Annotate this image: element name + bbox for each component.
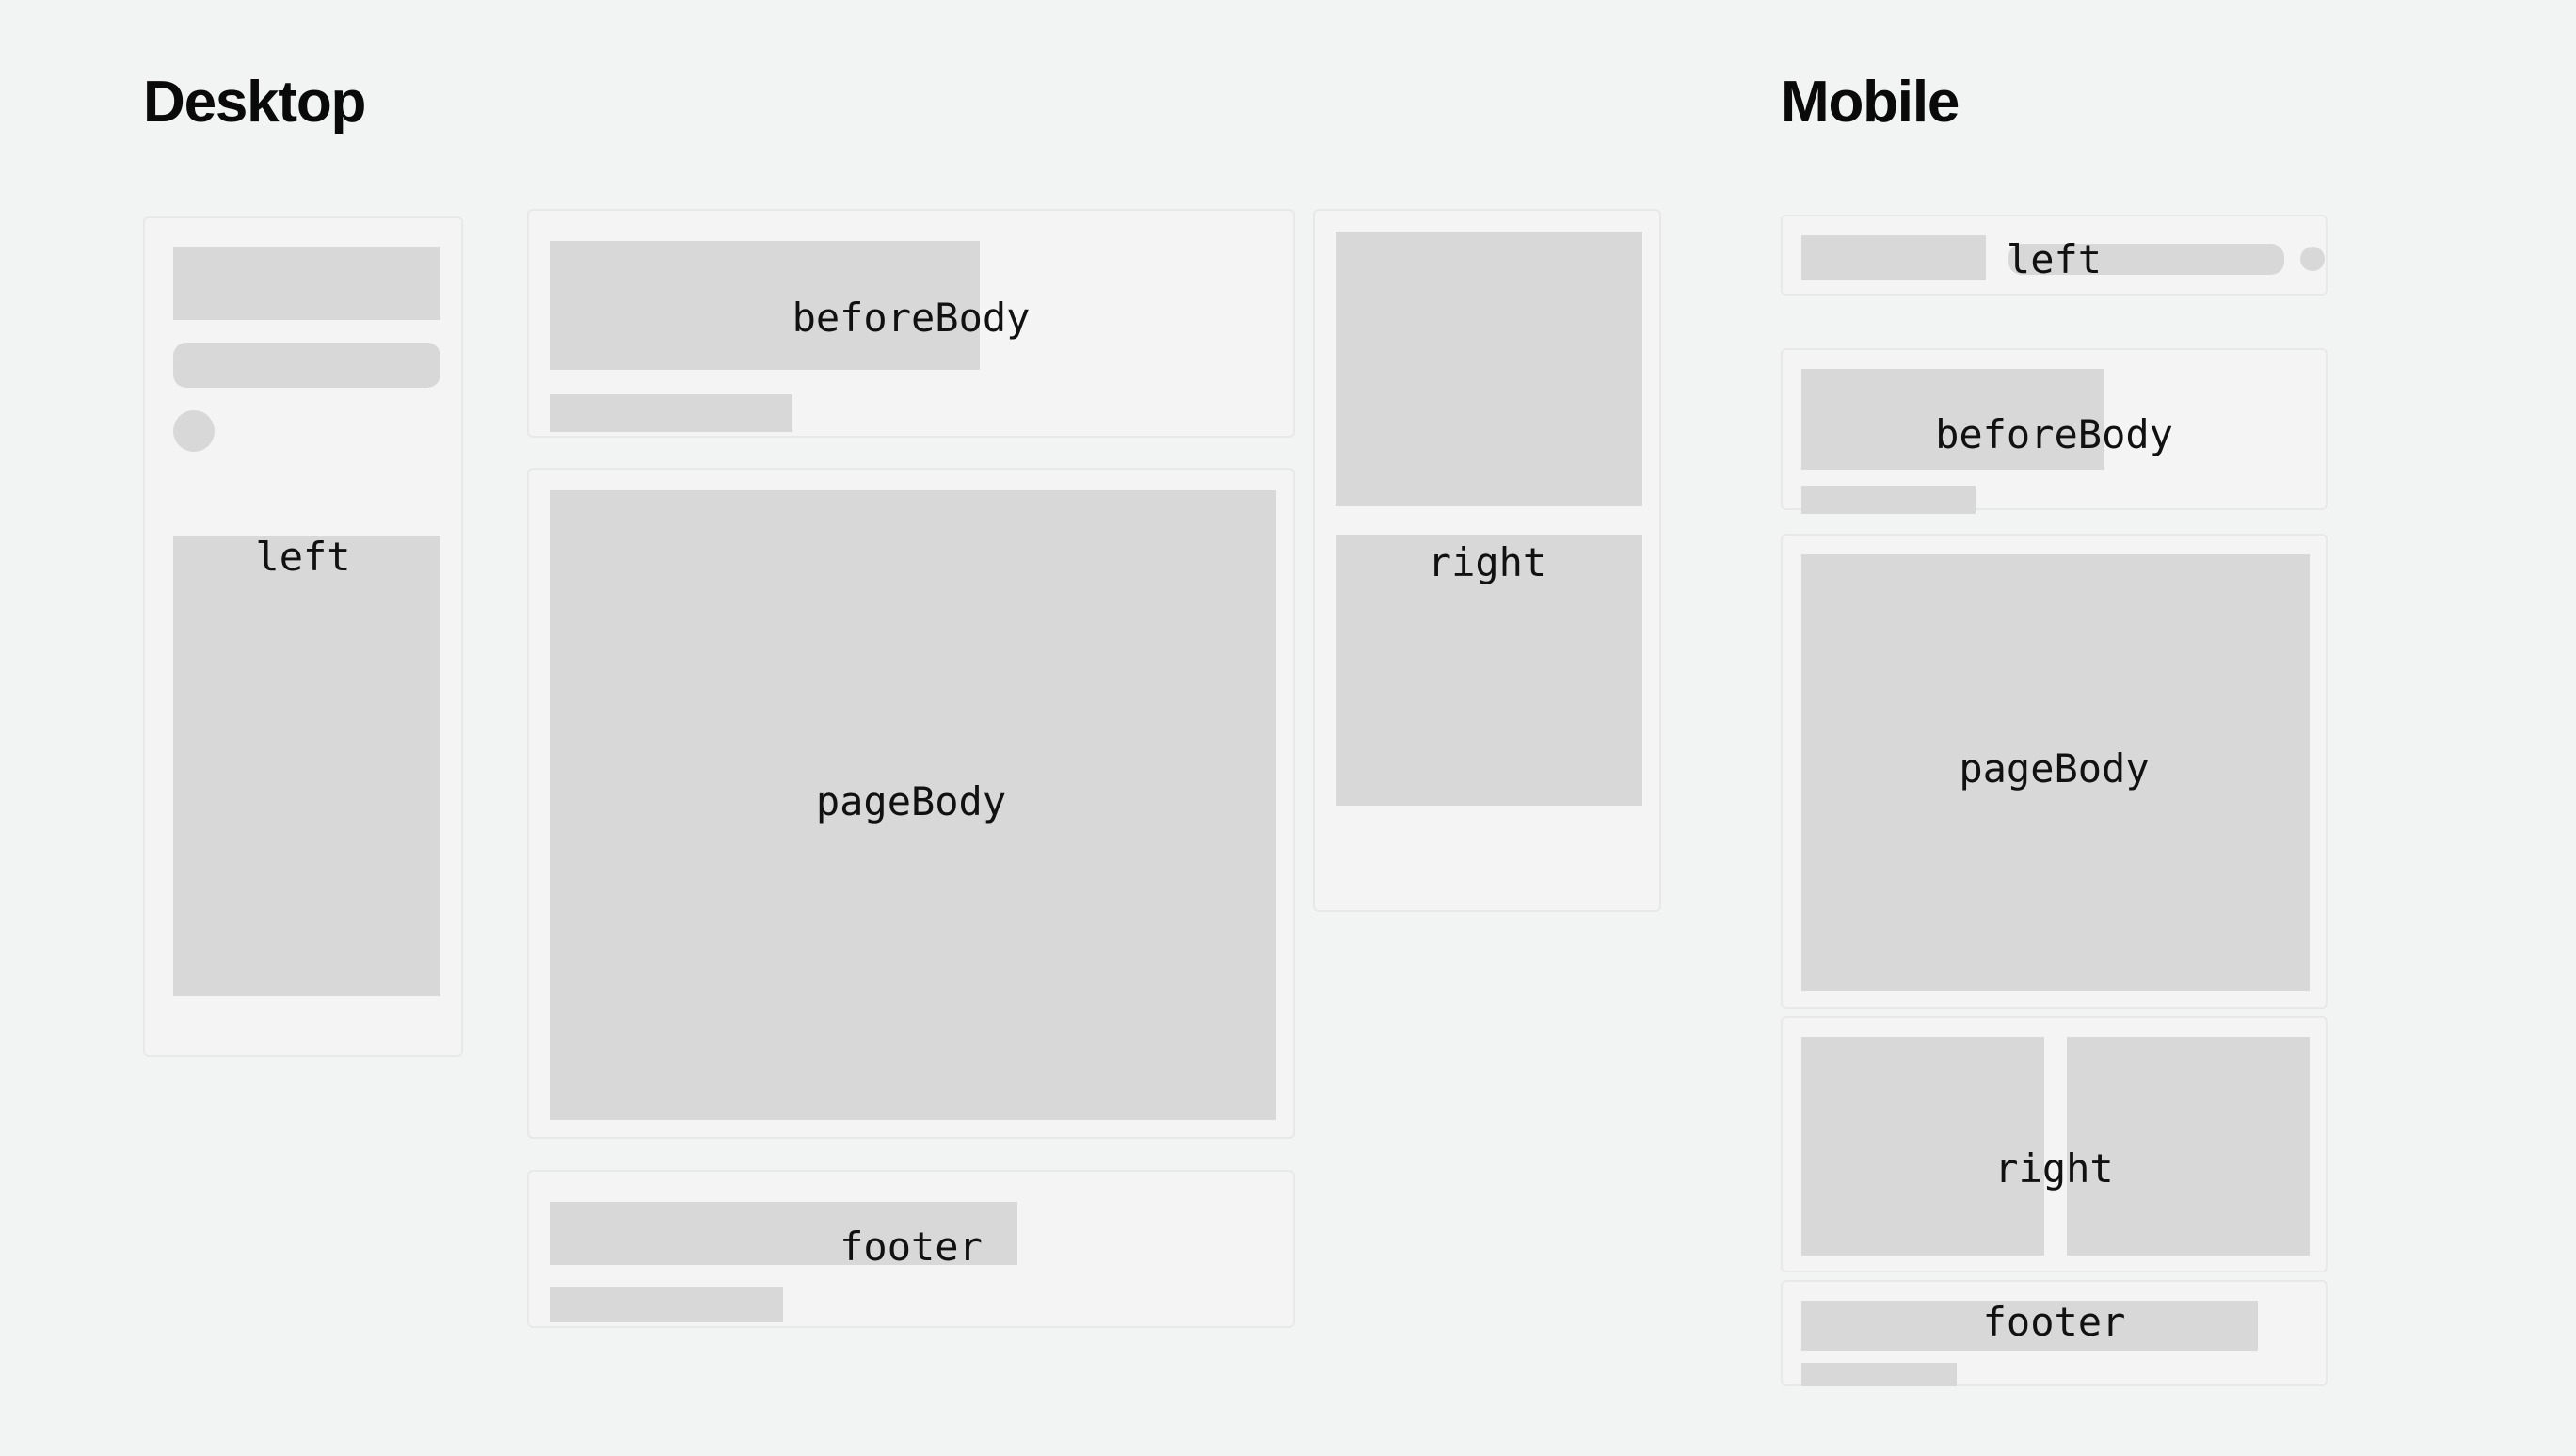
mobile-right-panel[interactable]: [1781, 1016, 2328, 1272]
mobile-pagebody-panel[interactable]: [1781, 534, 2328, 1009]
mobile-left-panel[interactable]: [1781, 215, 2328, 296]
placeholder-block: [1336, 535, 1642, 806]
placeholder-block: [1801, 235, 1986, 280]
mobile-section-title: Mobile: [1781, 73, 1959, 132]
placeholder-block: [173, 247, 440, 320]
placeholder-block: [173, 536, 440, 996]
placeholder-block: [1801, 554, 2310, 991]
mobile-beforebody-panel[interactable]: [1781, 348, 2328, 510]
placeholder-bar: [1801, 486, 1976, 514]
placeholder-avatar-circle: [173, 410, 215, 452]
desktop-beforebody-panel[interactable]: [527, 209, 1295, 438]
desktop-section-title: Desktop: [143, 73, 365, 132]
desktop-right-panel[interactable]: [1313, 209, 1661, 912]
placeholder-block: [1801, 369, 2104, 470]
placeholder-block: [550, 241, 980, 370]
desktop-footer-panel[interactable]: [527, 1170, 1295, 1328]
placeholder-block: [1336, 232, 1642, 506]
placeholder-bar: [173, 343, 440, 388]
placeholder-block: [550, 490, 1276, 1120]
placeholder-block: [1801, 1301, 2258, 1351]
desktop-pagebody-panel[interactable]: [527, 468, 1295, 1139]
placeholder-bar: [550, 394, 792, 432]
placeholder-avatar-circle: [2300, 247, 2325, 271]
placeholder-bar: [550, 1287, 783, 1322]
mobile-footer-panel[interactable]: [1781, 1280, 2328, 1386]
placeholder-bar: [1801, 1363, 1957, 1386]
placeholder-block: [1801, 1037, 2044, 1256]
placeholder-block: [2067, 1037, 2310, 1256]
desktop-left-panel[interactable]: [143, 216, 463, 1057]
placeholder-bar: [2008, 244, 2284, 275]
placeholder-block: [550, 1202, 1017, 1265]
wireframe-stage: Desktop left beforeBody pageBody footer …: [0, 0, 2576, 1456]
